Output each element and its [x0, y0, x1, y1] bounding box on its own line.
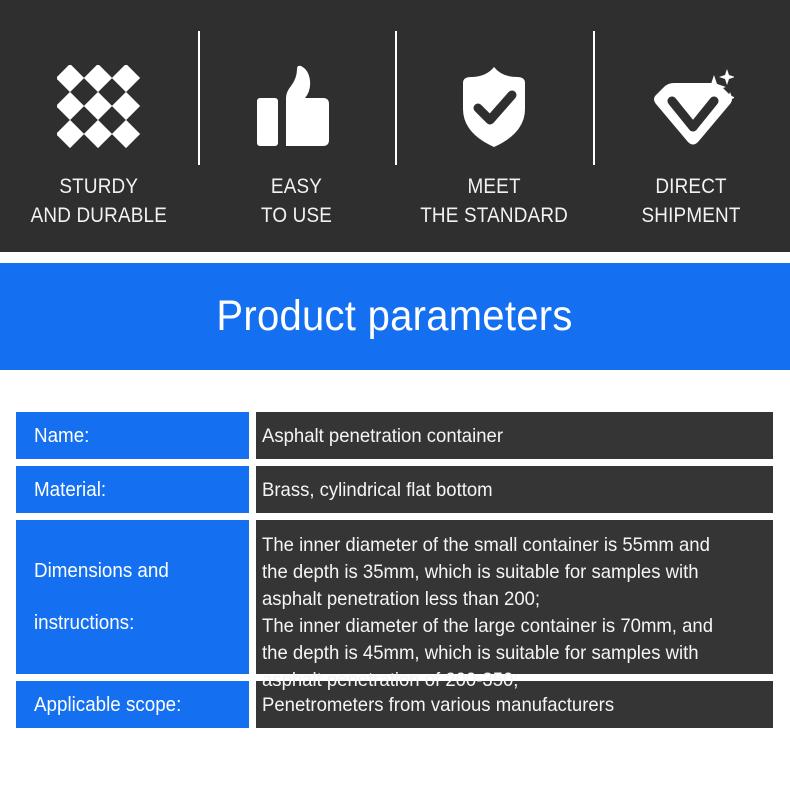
feature-label: MEET THE STANDARD: [420, 172, 568, 230]
thumbs-up-icon: [257, 52, 335, 162]
spec-key-material: Material:: [16, 466, 249, 513]
table-row: Material: Brass, cylindrical flat bottom: [16, 466, 773, 513]
spec-value-material: Brass, cylindrical flat bottom: [256, 466, 773, 513]
spec-key-label-line2: instructions:: [34, 597, 169, 649]
spec-key-label: Name:: [34, 423, 89, 449]
table-row: Name: Asphalt penetration container: [16, 412, 773, 459]
section-title-bar: Product parameters: [0, 263, 790, 370]
feature-label-line1: MEET: [467, 175, 520, 198]
feature-item-easy-to-use: EASY TO USE: [198, 0, 396, 252]
feature-label-line2: SHIPMENT: [642, 201, 741, 230]
diamond-grid-icon: [57, 52, 141, 162]
feature-label-line2: AND DURABLE: [31, 201, 167, 230]
feature-label: DIRECT SHIPMENT: [642, 172, 741, 230]
spec-value-text: The inner diameter of the small containe…: [262, 532, 713, 694]
feature-label-line2: TO USE: [261, 201, 332, 230]
spec-value-text: Penetrometers from various manufacturers: [262, 692, 614, 718]
spec-key-dimensions-and-instructions: Dimensions and instructions:: [16, 520, 249, 674]
section-title-wrapper: Product parameters: [0, 252, 790, 370]
feature-item-direct-shipment: DIRECT SHIPMENT: [593, 0, 790, 252]
feature-label: STURDY AND DURABLE: [31, 172, 167, 230]
table-row: Dimensions and instructions: The inner d…: [16, 520, 773, 674]
feature-label-line1: EASY: [271, 175, 322, 198]
feature-label: EASY TO USE: [261, 172, 332, 230]
feature-label-line1: DIRECT: [656, 175, 727, 198]
spec-value-text: Brass, cylindrical flat bottom: [262, 477, 493, 503]
shield-check-icon: [457, 52, 531, 162]
feature-label-line2: THE STANDARD: [420, 201, 568, 230]
feature-item-sturdy-and-durable: STURDY AND DURABLE: [0, 0, 198, 252]
spec-value-dimensions-and-instructions: The inner diameter of the small containe…: [256, 520, 773, 674]
spec-table: Name: Asphalt penetration container Mate…: [16, 412, 773, 728]
sparkle-gem-icon: [648, 52, 734, 162]
spec-key-label-line1: Dimensions and: [34, 545, 169, 597]
page-title: Product parameters: [217, 292, 573, 341]
spec-key-name: Name:: [16, 412, 249, 459]
spec-key-applicable-scope: Applicable scope:: [16, 681, 249, 728]
spec-key-label: Applicable scope:: [34, 692, 181, 718]
spec-value-text: Asphalt penetration container: [262, 423, 503, 449]
feature-banner: STURDY AND DURABLE EASY TO USE MEET: [0, 0, 790, 252]
feature-label-line1: STURDY: [59, 175, 138, 198]
feature-item-meet-the-standard: MEET THE STANDARD: [395, 0, 593, 252]
spec-value-name: Asphalt penetration container: [256, 412, 773, 459]
spec-key-label: Material:: [34, 477, 106, 503]
